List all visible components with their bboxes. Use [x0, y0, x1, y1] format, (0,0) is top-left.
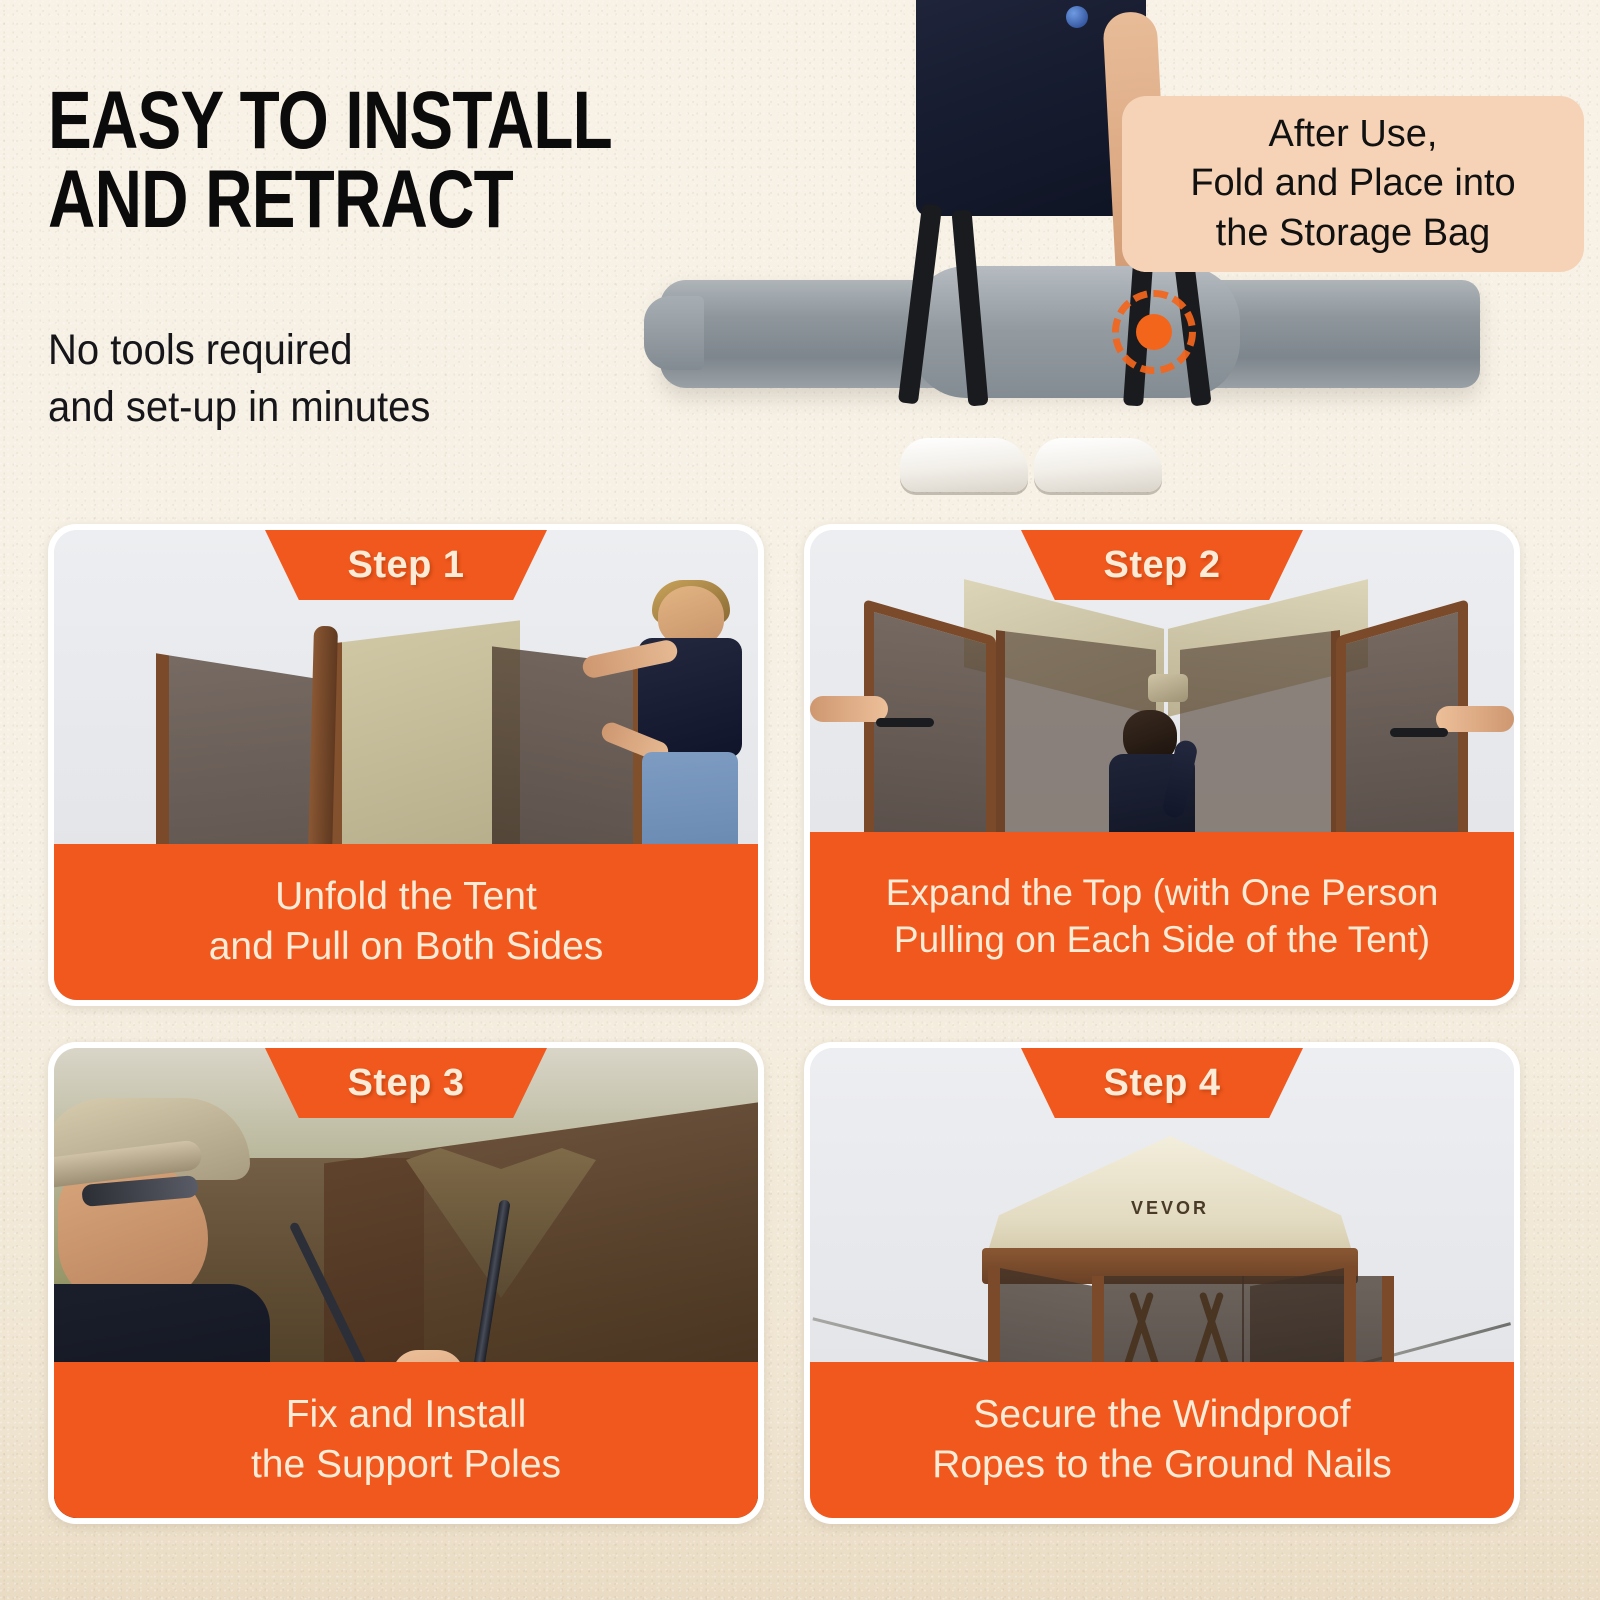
page-subtitle: No tools required and set-up in minutes: [48, 322, 699, 436]
page-title: EASY TO INSTALL AND RETRACT: [48, 82, 656, 239]
roof-brand-label: VEVOR: [960, 1198, 1380, 1219]
step-4-badge: Step 4: [1021, 1048, 1303, 1118]
after-use-callout: After Use, Fold and Place into the Stora…: [1122, 96, 1584, 272]
step-card-4[interactable]: VEVOR Step 4 Secure the Windproof Ropes …: [804, 1042, 1520, 1524]
step-card-3[interactable]: IANLE Step 3 Fix and Install the Support…: [48, 1042, 764, 1524]
step-2-caption: Expand the Top (with One Person Pulling …: [810, 832, 1514, 1000]
hero-shoe-left: [900, 438, 1028, 492]
infographic-page: EASY TO INSTALL AND RETRACT No tools req…: [0, 0, 1600, 1600]
step-4-caption: Secure the Windproof Ropes to the Ground…: [810, 1362, 1514, 1518]
tent-hub: [1148, 674, 1188, 702]
bag-logo-target-icon: [1112, 290, 1196, 374]
hero-shoe-right: [1034, 438, 1162, 492]
bag-logo-core: [1136, 314, 1172, 350]
step-3-badge: Step 3: [265, 1048, 547, 1118]
pull-peg-left: [876, 718, 934, 727]
step-3-caption: Fix and Install the Support Poles: [54, 1362, 758, 1518]
helper-hand-right: [1436, 706, 1514, 732]
step-card-1[interactable]: Step 1 Unfold the Tent and Pull on Both …: [48, 524, 764, 1006]
step-2-badge: Step 2: [1021, 530, 1303, 600]
step-4-badge-label: Step 4: [1103, 1062, 1220, 1105]
person-head: [658, 586, 724, 646]
step-1-badge: Step 1: [265, 530, 547, 600]
chest-logo-icon: [1066, 6, 1088, 28]
pull-peg-right: [1390, 728, 1448, 737]
step-2-badge-label: Step 2: [1103, 544, 1220, 587]
step-3-badge-label: Step 3: [347, 1062, 464, 1105]
step-1-caption: Unfold the Tent and Pull on Both Sides: [54, 844, 758, 1000]
storage-bag: [660, 280, 1480, 388]
helper-hand-left: [810, 696, 888, 722]
step-1-badge-label: Step 1: [347, 544, 464, 587]
step-card-2[interactable]: Step 2 Expand the Top (with One Person P…: [804, 524, 1520, 1006]
